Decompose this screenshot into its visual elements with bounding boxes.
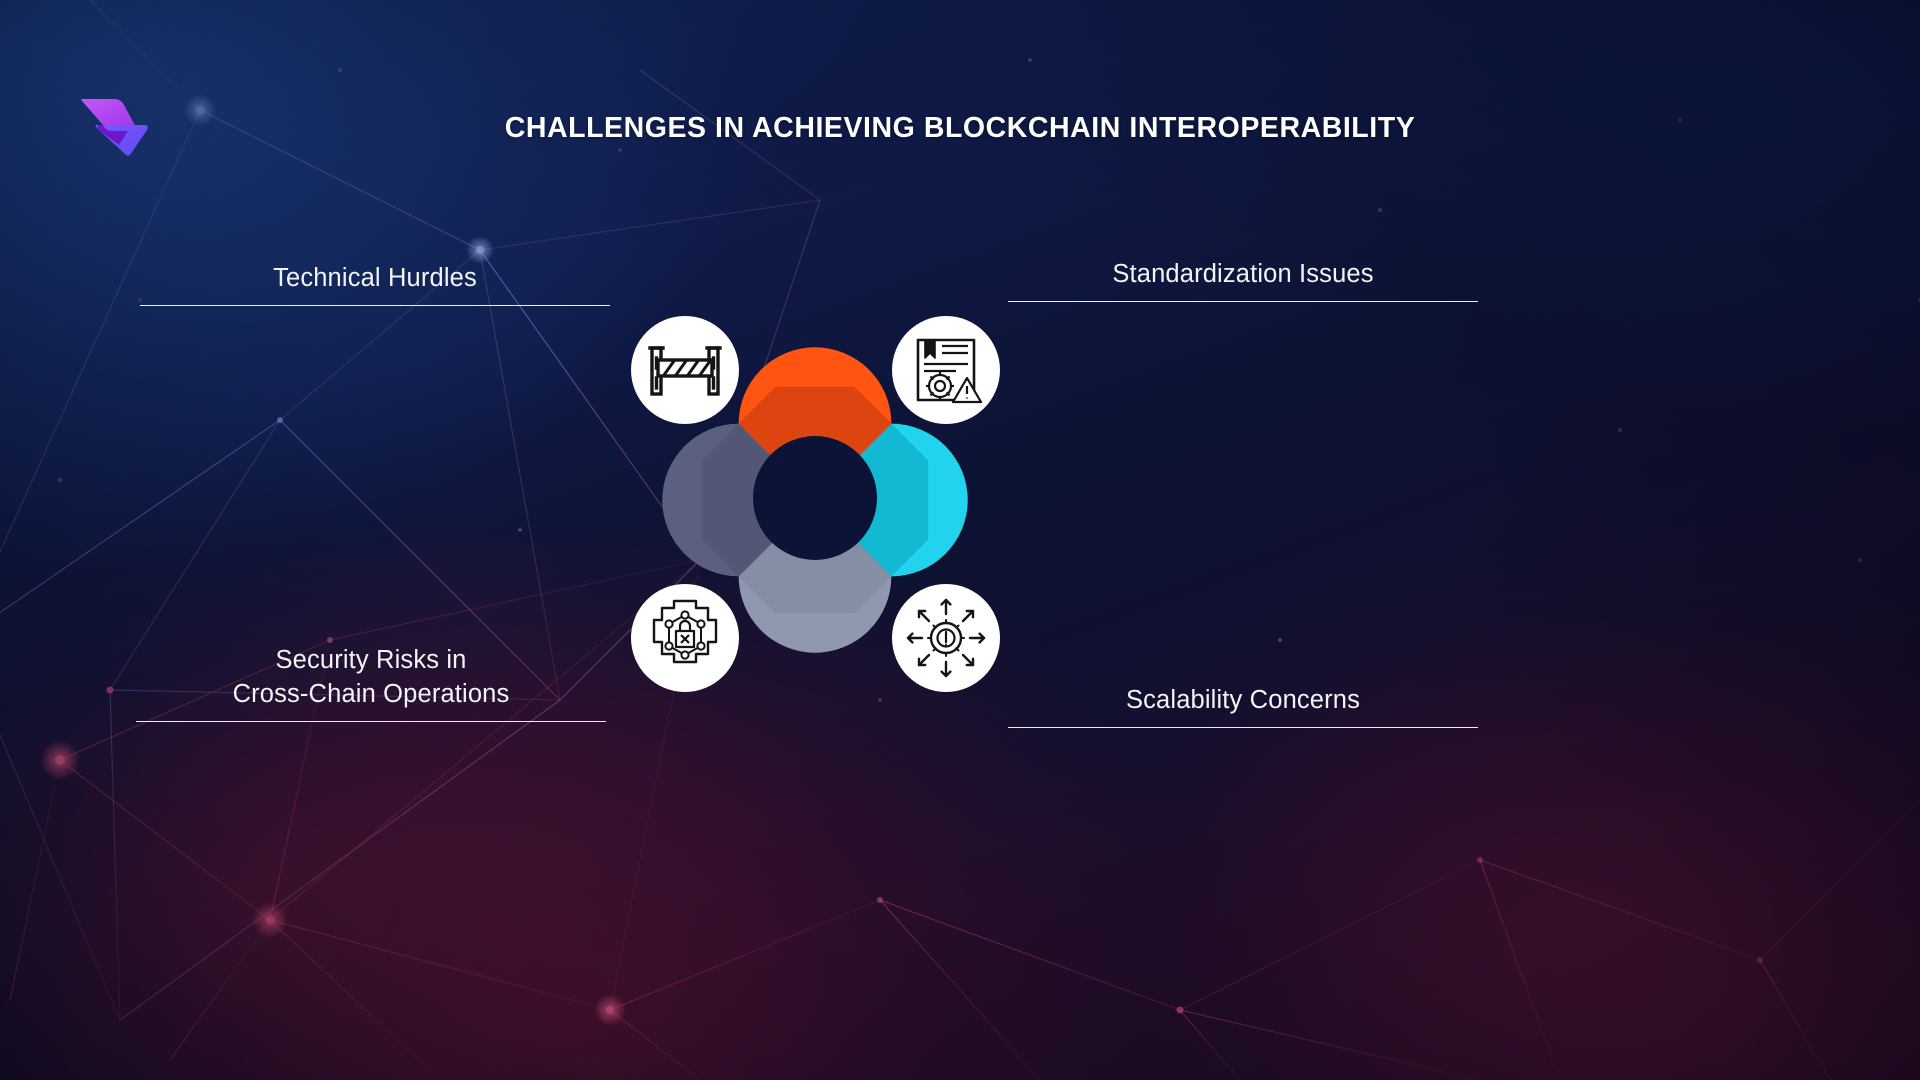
quadrant-label-scalability-concerns: Scalability Concerns [1008, 684, 1478, 728]
center-hub-circle [753, 436, 877, 560]
label-underline [140, 305, 610, 306]
quadrant-label-technical-hurdles: Technical Hurdles [140, 262, 610, 306]
four-pin-x-diagram [600, 290, 1030, 710]
label-underline [1008, 727, 1478, 728]
icon-circle-technical-hurdles [631, 316, 739, 424]
quadrant-label-text: Scalability Concerns [1008, 684, 1478, 718]
icon-circle-scalability-concerns [892, 584, 1000, 692]
quadrant-label-text: Security Risks in Cross-Chain Operations [136, 644, 606, 712]
page-title: CHALLENGES IN ACHIEVING BLOCKCHAIN INTER… [0, 112, 1920, 145]
quadrant-label-security-risks: Security Risks in Cross-Chain Operations [136, 644, 606, 722]
gear-lock-blocked-icon [654, 601, 716, 662]
label-underline [136, 721, 606, 722]
document-gear-warning-icon [918, 340, 981, 402]
icon-circle-standardization-issues [892, 316, 1000, 424]
quadrant-label-text: Standardization Issues [1008, 258, 1478, 292]
quadrant-label-standardization-issues: Standardization Issues [1008, 258, 1478, 302]
expand-arrows-target-icon [908, 600, 984, 676]
slide-canvas: CHALLENGES IN ACHIEVING BLOCKCHAIN INTER… [0, 0, 1920, 1080]
quadrant-label-text: Technical Hurdles [140, 262, 610, 296]
label-underline [1008, 301, 1478, 302]
icon-circle-security-risks [631, 584, 739, 692]
